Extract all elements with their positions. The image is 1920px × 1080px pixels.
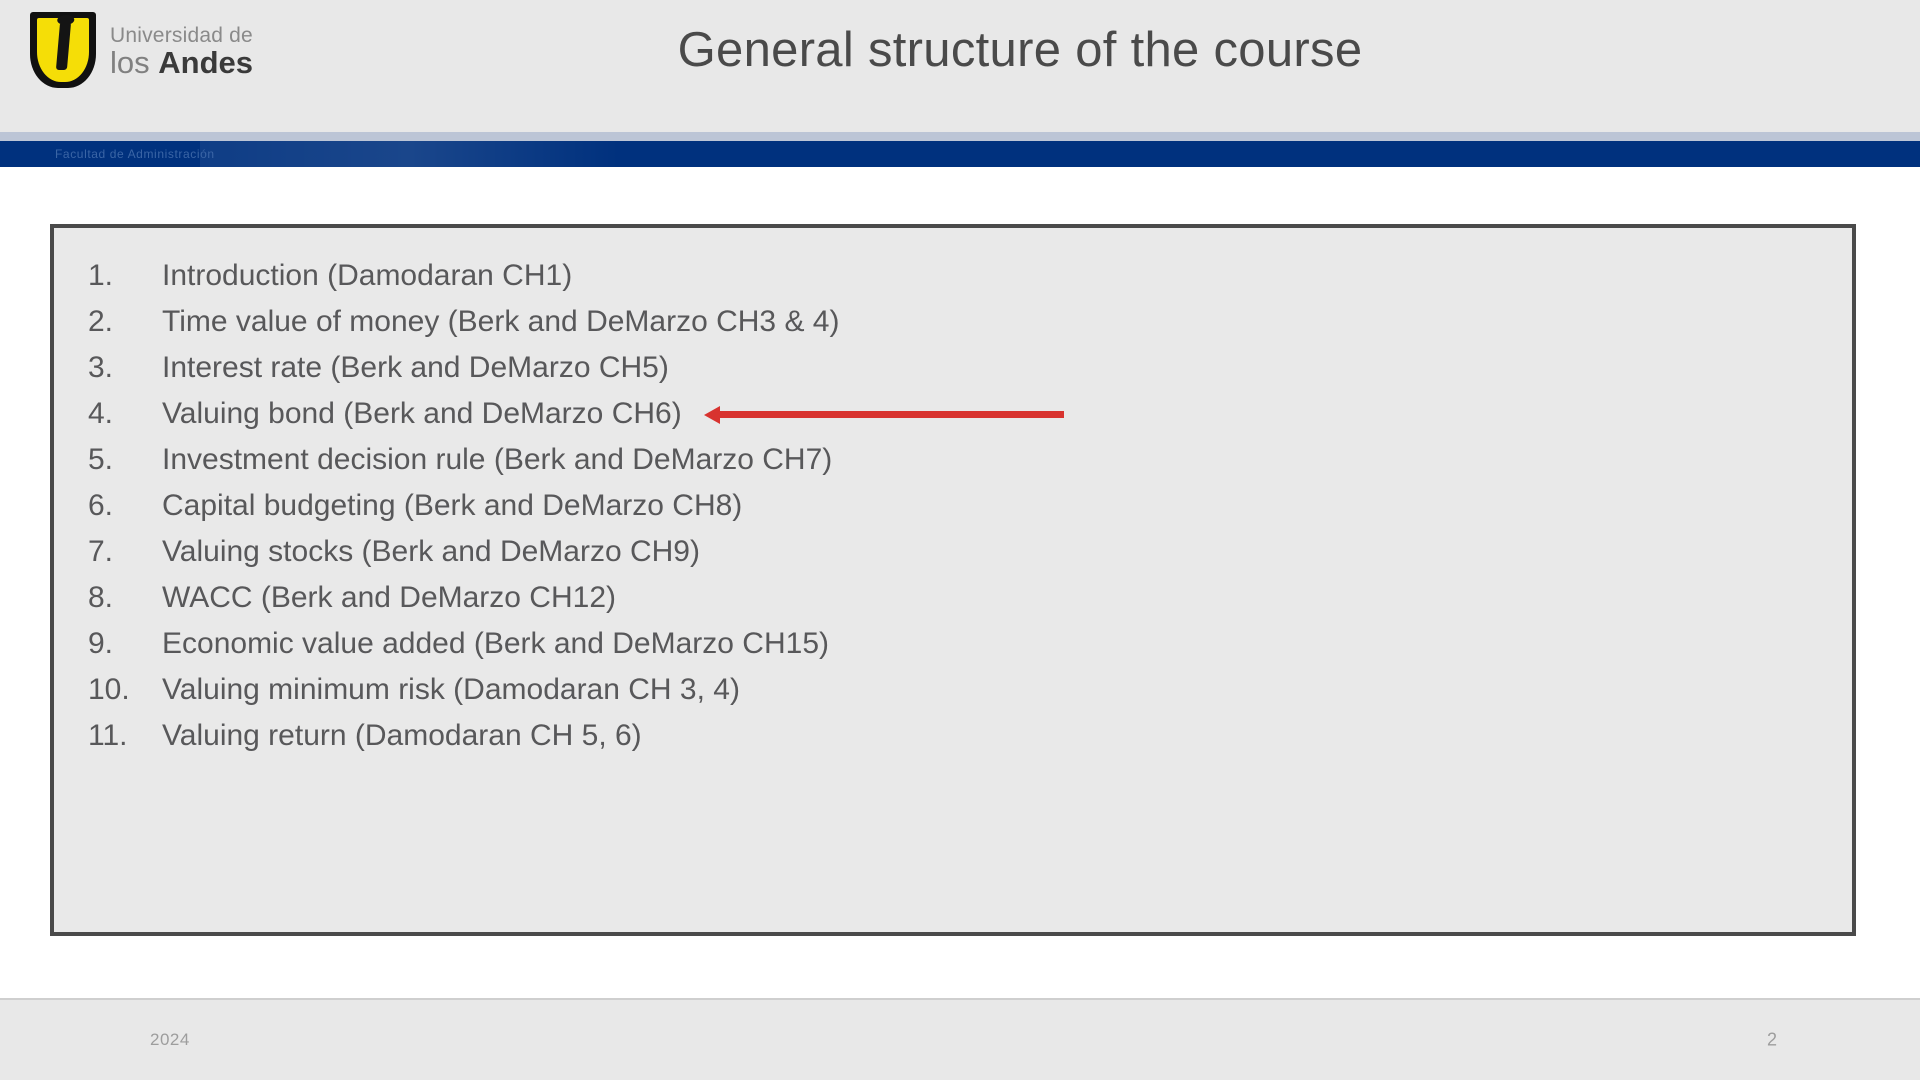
list-item: 10. Valuing minimum risk (Damodaran CH 3… [88, 675, 1852, 721]
list-item: 9. Economic value added (Berk and DeMarz… [88, 629, 1852, 675]
header-blue-band: Facultad de Administración [0, 141, 1920, 167]
header-rule [0, 132, 1920, 141]
list-item-label: Valuing return (Damodaran CH 5, 6) [162, 721, 642, 751]
list-item: 1. Introduction (Damodaran CH1) [88, 261, 1852, 307]
list-item-index: 5. [88, 445, 162, 475]
list-item-label: Investment decision rule (Berk and DeMar… [162, 445, 832, 475]
list-item-index: 7. [88, 537, 162, 567]
list-item: 5. Investment decision rule (Berk and De… [88, 445, 1852, 491]
list-item-label: Time value of money (Berk and DeMarzo CH… [162, 307, 839, 337]
header-band-shade [200, 141, 620, 167]
list-item-index: 3. [88, 353, 162, 383]
list-item: 11. Valuing return (Damodaran CH 5, 6) [88, 721, 1852, 767]
list-item: 7. Valuing stocks (Berk and DeMarzo CH9) [88, 537, 1852, 583]
list-item-index: 6. [88, 491, 162, 521]
list-item-index: 2. [88, 307, 162, 337]
slide-footer: 2024 2 [0, 998, 1920, 1080]
agenda-list: 1. Introduction (Damodaran CH1) 2. Time … [54, 228, 1852, 767]
list-item-label: Valuing minimum risk (Damodaran CH 3, 4) [162, 675, 740, 705]
agenda-panel: 1. Introduction (Damodaran CH1) 2. Time … [50, 224, 1856, 936]
page-number: 2 [1767, 1030, 1777, 1051]
slide-body: 1. Introduction (Damodaran CH1) 2. Time … [0, 167, 1920, 1080]
list-item-index: 4. [88, 399, 162, 429]
list-item-highlighted: 4. Valuing bond (Berk and DeMarzo CH6) [88, 399, 1852, 445]
page-title: General structure of the course [0, 22, 1920, 78]
list-item: 8. WACC (Berk and DeMarzo CH12) [88, 583, 1852, 629]
list-item-index: 9. [88, 629, 162, 659]
footer-left-text: 2024 [150, 1030, 190, 1050]
list-item: 6. Capital budgeting (Berk and DeMarzo C… [88, 491, 1852, 537]
list-item-label: Introduction (Damodaran CH1) [162, 261, 572, 291]
list-item-index: 8. [88, 583, 162, 613]
slide: Universidad de los Andes General structu… [0, 0, 1920, 1080]
list-item-label: Capital budgeting (Berk and DeMarzo CH8) [162, 491, 742, 521]
list-item-label: WACC (Berk and DeMarzo CH12) [162, 583, 616, 613]
list-item-label: Economic value added (Berk and DeMarzo C… [162, 629, 829, 659]
list-item-index: 1. [88, 261, 162, 291]
header-band-label: Facultad de Administración [55, 147, 215, 161]
list-item-index: 11. [88, 721, 162, 751]
list-item-label: Valuing stocks (Berk and DeMarzo CH9) [162, 537, 700, 567]
slide-header: Universidad de los Andes General structu… [0, 0, 1920, 132]
red-arrow-left-icon [704, 403, 1064, 423]
list-item-label: Interest rate (Berk and DeMarzo CH5) [162, 353, 669, 383]
list-item: 2. Time value of money (Berk and DeMarzo… [88, 307, 1852, 353]
list-item-label: Valuing bond (Berk and DeMarzo CH6) [162, 399, 682, 429]
list-item-index: 10. [88, 675, 162, 705]
list-item: 3. Interest rate (Berk and DeMarzo CH5) [88, 353, 1852, 399]
